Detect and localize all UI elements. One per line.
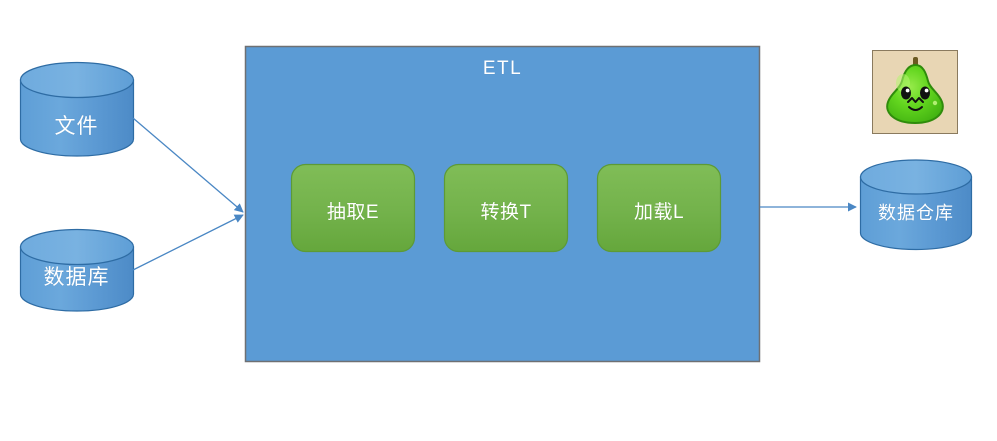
warehouse-cylinder-top — [861, 160, 972, 194]
arrow-database-to-etl — [133, 215, 243, 270]
pear-left-eye-icon — [901, 87, 911, 100]
source-file-cylinder[interactable] — [21, 63, 134, 157]
stage-load-rect — [598, 165, 721, 252]
arrow-file-to-etl-line — [133, 118, 243, 212]
database-cylinder-top — [21, 230, 134, 265]
target-warehouse-cylinder[interactable] — [861, 160, 972, 250]
pear-left-eye-glint — [906, 89, 910, 93]
pear-body-icon — [887, 65, 943, 123]
arrow-file-to-etl — [133, 118, 243, 212]
stage-transform[interactable] — [445, 165, 568, 252]
pear-right-eye-glint — [925, 89, 929, 93]
arrow-database-to-etl-line — [133, 215, 243, 270]
stage-extract-rect — [292, 165, 415, 252]
file-cylinder-top — [21, 63, 134, 98]
stage-transform-rect — [445, 165, 568, 252]
pear-sparkle — [933, 101, 937, 105]
pear-right-eye-icon — [920, 87, 930, 100]
pear-mascot-icon — [873, 51, 957, 133]
stage-extract[interactable] — [292, 165, 415, 252]
source-database-cylinder[interactable] — [21, 230, 134, 312]
diagram-vector-layer — [0, 0, 997, 441]
stage-load[interactable] — [598, 165, 721, 252]
pear-mascot-frame — [872, 50, 958, 134]
diagram-canvas: ETL 文件 数据库 抽取E 转换T 加载L 数据仓库 — [0, 0, 997, 441]
